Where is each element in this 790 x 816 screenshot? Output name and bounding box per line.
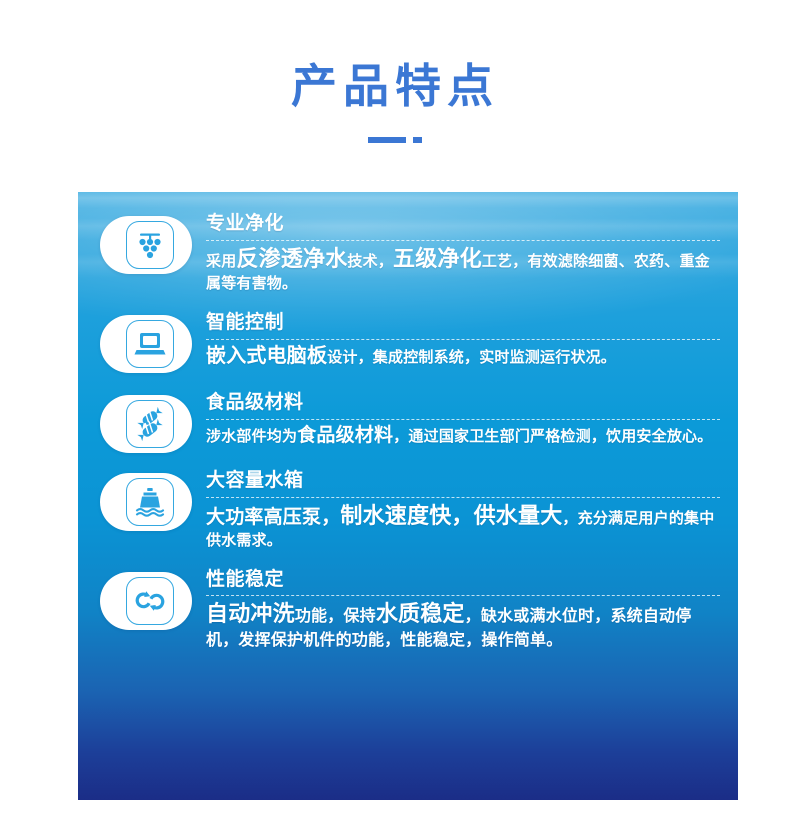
feature-separator: [206, 497, 720, 498]
feature-text: 智能控制嵌入式电脑板设计，集成控制系统，实时监测运行状况。: [206, 309, 720, 370]
feature-description-part: 反渗透净水: [236, 246, 347, 271]
feature-description-part: 嵌入式电脑板: [206, 345, 327, 367]
feature-icon-wrap: [100, 395, 192, 453]
laptop-icon: [126, 320, 174, 368]
feature-icon-wrap: [100, 216, 192, 274]
title-divider: [368, 136, 422, 143]
feature-description-part: ，通过国家卫生部门严格检测，饮用安全放心。: [393, 428, 712, 445]
feature-title: 性能稳定: [206, 568, 720, 592]
feature-icon-wrap: [100, 572, 192, 630]
page-header: 产品特点: [0, 0, 790, 182]
feature-description-part: 功能，保持: [295, 608, 376, 625]
feature-title: 智能控制: [206, 311, 720, 335]
feature-description-part: 技术，: [347, 253, 393, 270]
feature-description-part: 设计，集成控制系统，实时监测运行状况。: [327, 349, 616, 366]
feature-row: 智能控制嵌入式电脑板设计，集成控制系统，实时监测运行状况。: [78, 309, 738, 373]
feature-title: 食品级材料: [206, 391, 720, 415]
feature-separator: [206, 419, 720, 420]
feature-description-part: 采用: [206, 253, 236, 270]
feature-list: 专业净化采用反渗透净水技术，五级净化工艺，有效滤除细菌、农药、重金属等有害物。 …: [78, 192, 738, 652]
feature-text: 大容量水箱大功率高压泵，制水速度快，供水量大，充分满足用户的集中供水需求。: [206, 467, 720, 552]
feature-title: 专业净化: [206, 212, 720, 236]
feature-icon-wrap: [100, 473, 192, 531]
feature-description: 自动冲洗功能，保持水质稳定，缺水或满水位时，系统自动停机，发挥保护机件的功能，性…: [206, 599, 720, 651]
product-features-page: 产品特点 专业净化采用反渗透净水技术，五级净化工艺，有效滤除细菌、农药、重金属等…: [0, 0, 790, 816]
candy-icon: [126, 400, 174, 448]
feature-text: 专业净化采用反渗透净水技术，五级净化工艺，有效滤除细菌、农药、重金属等有害物。: [206, 210, 720, 295]
feature-description-part: 五级净化: [393, 246, 482, 271]
title-divider-long-dash: [368, 137, 406, 143]
feature-description: 涉水部件均为食品级材料，通过国家卫生部门严格检测，饮用安全放心。: [206, 423, 720, 449]
feature-row: 专业净化采用反渗透净水技术，五级净化工艺，有效滤除细菌、农药、重金属等有害物。: [78, 210, 738, 295]
water-tank-icon: [126, 478, 174, 526]
feature-row: 食品级材料涉水部件均为食品级材料，通过国家卫生部门严格检测，饮用安全放心。: [78, 389, 738, 453]
feature-description: 嵌入式电脑板设计，集成控制系统，实时监测运行状况。: [206, 343, 720, 371]
feature-description-part: 自动冲洗: [206, 601, 295, 626]
feature-description: 采用反渗透净水技术，五级净化工艺，有效滤除细菌、农药、重金属等有害物。: [206, 244, 720, 295]
feature-row: 大容量水箱大功率高压泵，制水速度快，供水量大，充分满足用户的集中供水需求。: [78, 467, 738, 552]
feature-title: 大容量水箱: [206, 469, 720, 493]
feature-row: 性能稳定自动冲洗功能，保持水质稳定，缺水或满水位时，系统自动停机，发挥保护机件的…: [78, 566, 738, 652]
feature-description-part: 食品级材料: [297, 425, 393, 446]
feature-description-part: 大功率高压泵，: [206, 507, 340, 528]
feature-text: 食品级材料涉水部件均为食品级材料，通过国家卫生部门严格检测，饮用安全放心。: [206, 389, 720, 449]
feature-description-part: 水质稳定: [376, 601, 465, 626]
feature-description-part: 制水速度快，供水量大: [340, 503, 562, 528]
water-filter-icon: [126, 221, 174, 269]
feature-icon-wrap: [100, 315, 192, 373]
feature-separator: [206, 240, 720, 241]
feature-panel: 专业净化采用反渗透净水技术，五级净化工艺，有效滤除细菌、农药、重金属等有害物。 …: [78, 192, 738, 800]
page-title: 产品特点: [291, 62, 499, 110]
title-divider-short-dash: [413, 137, 422, 143]
feature-description: 大功率高压泵，制水速度快，供水量大，充分满足用户的集中供水需求。: [206, 501, 720, 552]
feature-description-part: 涉水部件均为: [206, 428, 297, 445]
feature-text: 性能稳定自动冲洗功能，保持水质稳定，缺水或满水位时，系统自动停机，发挥保护机件的…: [206, 566, 720, 652]
feature-separator: [206, 595, 720, 596]
auto-flush-cycle-icon: [126, 577, 174, 625]
feature-separator: [206, 339, 720, 340]
